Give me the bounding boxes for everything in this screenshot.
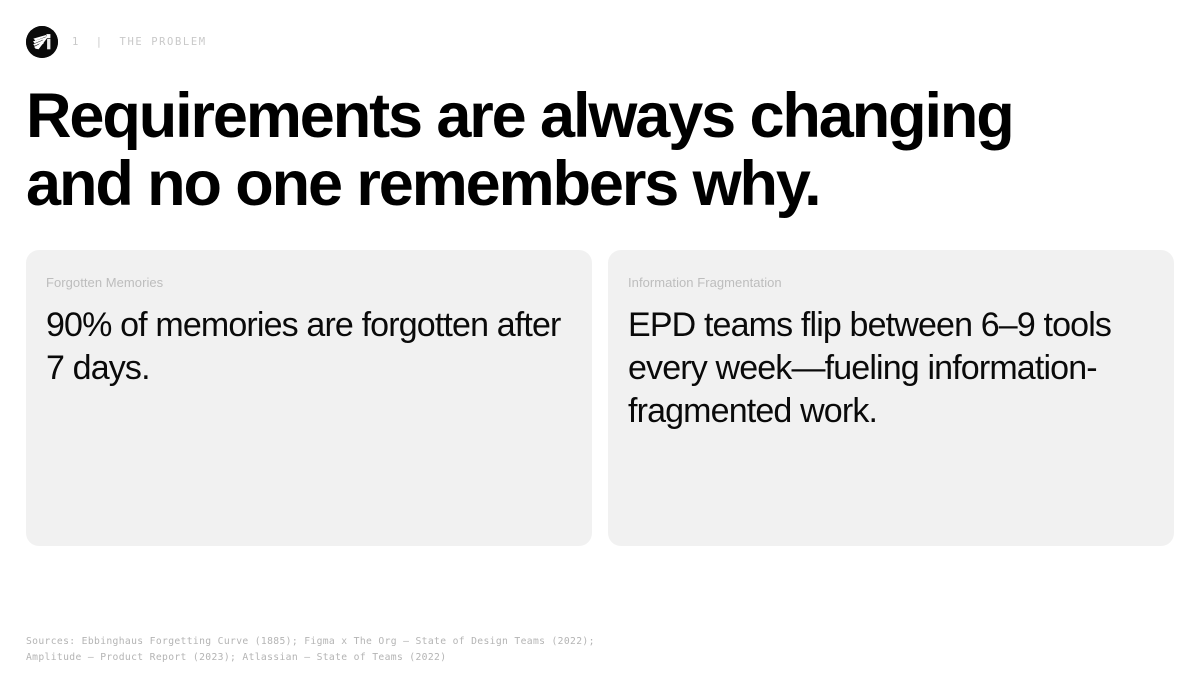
slide-section-label: 1 | THE PROBLEM xyxy=(72,37,207,48)
stat-card-information-fragmentation: Information Fragmentation EPD teams flip… xyxy=(608,250,1174,546)
page-title: Requirements are always changing and no … xyxy=(26,82,1086,218)
slide-root: 1 | THE PROBLEM Requirements are always … xyxy=(0,0,1200,675)
stat-card-group: Forgotten Memories 90% of memories are f… xyxy=(26,250,1174,546)
slide-eyebrow: 1 | THE PROBLEM xyxy=(26,26,207,58)
stat-card-body: 90% of memories are forgotten after 7 da… xyxy=(46,304,570,390)
sources-footnote: Sources: Ebbinghaus Forgetting Curve (18… xyxy=(26,634,595,665)
stat-card-body: EPD teams flip between 6–9 tools every w… xyxy=(628,304,1152,433)
quill-feather-logo-icon xyxy=(26,26,58,58)
stat-card-label: Forgotten Memories xyxy=(46,274,570,292)
stat-card-forgotten-memories: Forgotten Memories 90% of memories are f… xyxy=(26,250,592,546)
stat-card-label: Information Fragmentation xyxy=(628,274,1152,292)
